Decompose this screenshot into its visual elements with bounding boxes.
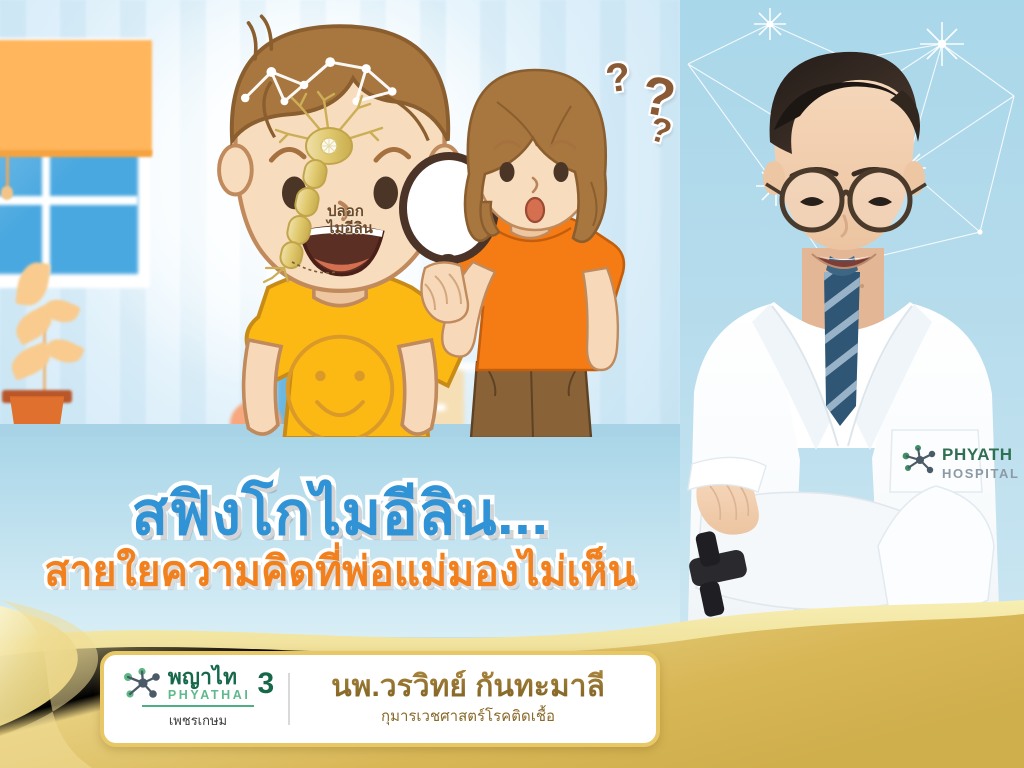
poster-title: สฟิงโกไมอีลิน... — [0, 482, 680, 546]
logo-branch-name: เพชรเกษม — [169, 710, 227, 731]
illustration-scene: ปลอก ไมอีลิน — [0, 0, 680, 438]
logo-divider — [142, 705, 254, 707]
doctor-credit: นพ.วรวิทย์ กันทะมาลี กุมารเวชศาสตร์โรคติ… — [294, 670, 656, 729]
logo-english-text: PHYATHAI — [168, 689, 251, 702]
credit-bar: พญาไท PHYATHAI 3 เพชรเกษม นพ.วรวิทย์ กัน… — [100, 651, 660, 747]
logo-number: 3 — [257, 669, 274, 699]
hospital-logo[interactable]: พญาไท PHYATHAI 3 เพชรเกษม — [104, 667, 286, 732]
neuron-diagram — [258, 92, 388, 282]
svg-text:HOSPITAL: HOSPITAL — [942, 466, 1020, 481]
logo-thai-text: พญาไท — [168, 667, 237, 688]
poster-subtitle: สายใยความคิดที่พ่อแม่มองไม่เห็น — [0, 548, 680, 594]
title-block: สฟิงโกไมอีลิน... สายใยความคิดที่พ่อแม่มอ… — [0, 482, 680, 594]
phyathai-molecule-icon — [122, 668, 162, 700]
myelin-label: ปลอก ไมอีลิน — [327, 203, 397, 237]
doctor-panel: PHYATH HOSPITAL — [680, 0, 1024, 700]
credit-divider — [288, 673, 290, 725]
poster-canvas: PHYATH HOSPITAL — [0, 0, 1024, 768]
doctor-name: นพ.วรวิทย์ กันทะมาลี — [331, 670, 605, 704]
svg-text:PHYATH: PHYATH — [942, 445, 1013, 464]
doctor-specialty: กุมารเวชศาสตร์โรคติดเชื้อ — [381, 704, 555, 728]
